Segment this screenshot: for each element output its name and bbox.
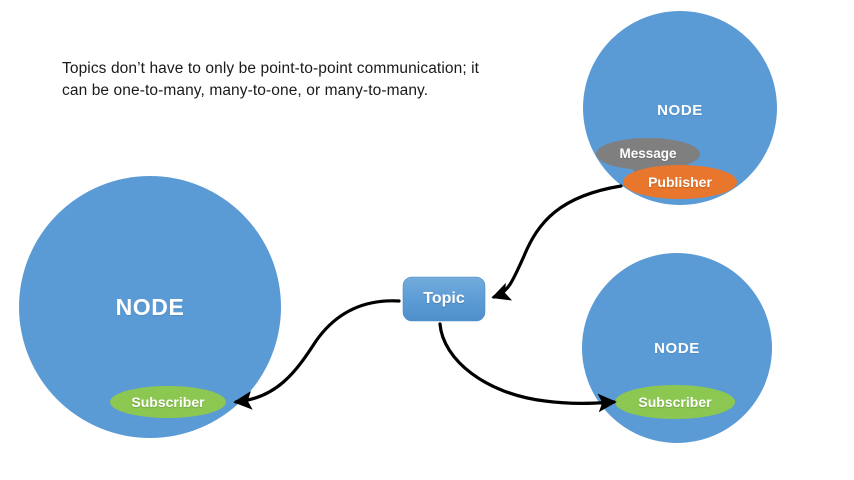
publisher-ellipse — [623, 165, 737, 199]
arrow-publisher-to-topic — [494, 186, 621, 297]
caption-text: Topics don’t have to only be point-to-po… — [62, 58, 482, 103]
subscriber-ellipse-left — [110, 386, 226, 418]
topic-rect[interactable] — [403, 277, 485, 321]
slide-canvas: Topics don’t have to only be point-to-po… — [0, 0, 854, 480]
subscriber-ellipse-right — [615, 385, 735, 419]
